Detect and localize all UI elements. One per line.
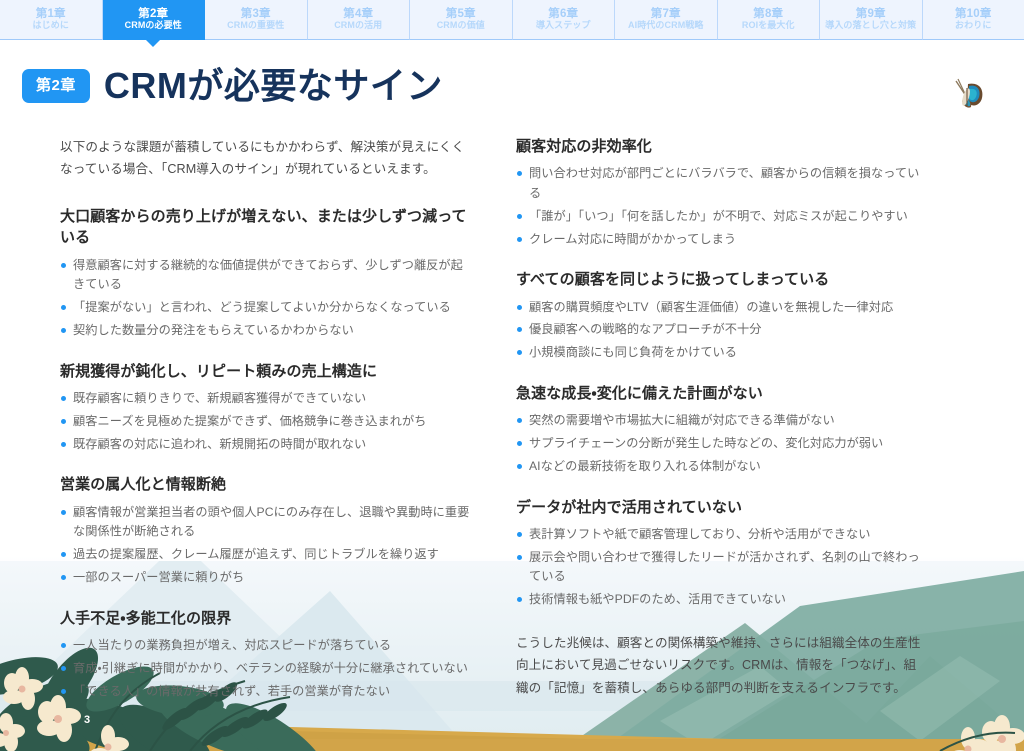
- tab-chapter-4[interactable]: 第4章 CRMの活用: [308, 0, 411, 40]
- list-item: クレーム対応に時間がかかってしまう: [516, 230, 926, 250]
- list-item: 一部のスーパー営業に頼りがち: [60, 568, 470, 588]
- tab-number: 第1章: [36, 8, 66, 21]
- list-item: 展示会や問い合わせで獲得したリードが活かされず、名刺の山で終わっている: [516, 548, 926, 588]
- tab-subtitle: ROIを最大化: [742, 21, 795, 31]
- list-item: 「できる人」の情報が共有されず、若手の営業が育たない: [60, 682, 470, 702]
- list-item: サプライチェーンの分断が発生した時などの、変化対応力が弱い: [516, 434, 926, 454]
- list-item: 優良顧客への戦略的なアプローチが不十分: [516, 320, 926, 340]
- lead-paragraph: 以下のような課題が蓄積しているにもかかわらず、解決策が見えにくくなっている場合、…: [60, 136, 470, 180]
- tab-chapter-7[interactable]: 第7章 AI時代のCRM戦略: [615, 0, 718, 40]
- section-bullet-list: 顧客の購買頻度やLTV（顧客生涯価値）の違いを無視した一律対応 優良顧客への戦略…: [516, 298, 926, 363]
- list-item: 契約した数量分の発注をもらえているかわからない: [60, 321, 470, 341]
- list-item: 育成・引継ぎに時間がかかり、ベテランの経験が十分に継承されていない: [60, 659, 470, 679]
- section-heading: 新規獲得が鈍化し、リピート頼みの売上構造に: [60, 361, 470, 382]
- section-data-not-utilized: データが社内で活用されていない 表計算ソフトや紙で顧客管理しており、分析や活用が…: [516, 497, 926, 610]
- list-item: 顧客情報が営業担当者の頭や個人PCにのみ存在し、退職や異動時に重要な関係性が断絶…: [60, 503, 470, 543]
- list-item: 「提案がない」と言われ、どう提案してよいか分からなくなっている: [60, 298, 470, 318]
- list-item: 得意顧客に対する継続的な価値提供ができておらず、少しずつ離反が起きている: [60, 256, 470, 296]
- list-item: 表計算ソフトや紙で顧客管理しており、分析や活用ができない: [516, 525, 926, 545]
- tab-number: 第9章: [856, 8, 886, 21]
- list-item: 顧客の購買頻度やLTV（顧客生涯価値）の違いを無視した一律対応: [516, 298, 926, 318]
- list-item: 突然の需要増や市場拡大に組織が対応できる準備がない: [516, 411, 926, 431]
- tab-subtitle: はじめに: [33, 21, 69, 31]
- section-heading: 営業の属人化と情報断絶: [60, 474, 470, 495]
- tab-number: 第8章: [753, 8, 783, 21]
- tab-subtitle: CRMの活用: [334, 21, 382, 31]
- section-heading: すべての顧客を同じように扱ってしまっている: [516, 269, 926, 290]
- slide-page: 第1章 はじめに 第2章 CRMの必要性 第3章 CRMの重要性 第4章 CRM…: [0, 0, 1024, 751]
- page-number: 3: [84, 714, 90, 726]
- section-heading: 急速な成長・変化に備えた計画がない: [516, 383, 926, 404]
- section-bullet-list: 得意顧客に対する継続的な価値提供ができておらず、少しずつ離反が起きている 「提案…: [60, 256, 470, 341]
- list-item: 一人当たりの業務負担が増え、対応スピードが落ちている: [60, 636, 470, 656]
- section-heading: 人手不足・多能工化の限界: [60, 608, 470, 629]
- section-large-customer-revenue: 大口顧客からの売り上げが増えない、または少しずつ減っている 得意顧客に対する継続…: [60, 206, 470, 341]
- section-bullet-list: 既存顧客に頼りきりで、新規顧客獲得ができていない 顧客ニーズを見極めた提案ができ…: [60, 389, 470, 454]
- list-item: 既存顧客の対応に追われ、新規開拓の時間が取れない: [60, 435, 470, 455]
- list-item: 顧客ニーズを見極めた提案ができず、価格競争に巻き込まれがち: [60, 412, 470, 432]
- list-item: 技術情報も紙やPDFのため、活用できていない: [516, 590, 926, 610]
- tab-number: 第2章: [138, 8, 168, 21]
- tab-number: 第3章: [241, 8, 271, 21]
- section-sales-siloing: 営業の属人化と情報断絶 顧客情報が営業担当者の頭や個人PCにのみ存在し、退職や異…: [60, 474, 470, 587]
- tab-number: 第10章: [955, 8, 992, 21]
- list-item: 「誰が」「いつ」「何を話したか」が不明で、対応ミスが起こりやすい: [516, 207, 926, 227]
- section-heading: データが社内で活用されていない: [516, 497, 926, 518]
- tab-subtitle: CRMの重要性: [227, 21, 284, 31]
- tab-chapter-1[interactable]: 第1章 はじめに: [0, 0, 103, 40]
- list-item: 既存顧客に頼りきりで、新規顧客獲得ができていない: [60, 389, 470, 409]
- section-bullet-list: 問い合わせ対応が部門ごとにバラバラで、顧客からの信頼を損なっている 「誰が」「い…: [516, 164, 926, 249]
- tab-chapter-8[interactable]: 第8章 ROIを最大化: [718, 0, 821, 40]
- tab-chapter-9[interactable]: 第9章 導入の落とし穴と対策: [820, 0, 923, 40]
- section-new-acquisition-slowdown: 新規獲得が鈍化し、リピート頼みの売上構造に 既存顧客に頼りきりで、新規顧客獲得が…: [60, 361, 470, 455]
- tab-chapter-3[interactable]: 第3章 CRMの重要性: [205, 0, 308, 40]
- tab-chapter-2[interactable]: 第2章 CRMの必要性: [103, 0, 206, 40]
- section-uniform-customer-treatment: すべての顧客を同じように扱ってしまっている 顧客の購買頻度やLTV（顧客生涯価値…: [516, 269, 926, 363]
- list-item: 過去の提案履歴、クレーム履歴が追えず、同じトラブルを繰り返す: [60, 545, 470, 565]
- section-bullet-list: 顧客情報が営業担当者の頭や個人PCにのみ存在し、退職や異動時に重要な関係性が断絶…: [60, 503, 470, 588]
- chapter-badge: 第2章: [22, 69, 90, 103]
- right-column: 顧客対応の非効率化 問い合わせ対応が部門ごとにバラバラで、顧客からの信頼を損なっ…: [516, 136, 926, 721]
- tab-subtitle: 導入の落とし穴と対策: [825, 21, 916, 31]
- left-column: 以下のような課題が蓄積しているにもかかわらず、解決策が見えにくくなっている場合、…: [60, 136, 470, 721]
- tab-subtitle: CRMの必要性: [125, 21, 182, 31]
- list-item: 小規模商談にも同じ負荷をかけている: [516, 343, 926, 363]
- section-no-growth-plan: 急速な成長・変化に備えた計画がない 突然の需要増や市場拡大に組織が対応できる準備…: [516, 383, 926, 477]
- list-item: 問い合わせ対応が部門ごとにバラバラで、顧客からの信頼を損なっている: [516, 164, 926, 204]
- list-item: AIなどの最新技術を取り入れる体制がない: [516, 457, 926, 477]
- tab-chapter-10[interactable]: 第10章 おわりに: [923, 0, 1024, 40]
- tab-chapter-5[interactable]: 第5章 CRMの価値: [410, 0, 513, 40]
- tab-subtitle: AI時代のCRM戦略: [628, 21, 704, 31]
- tab-number: 第5章: [446, 8, 476, 21]
- content-columns: 以下のような課題が蓄積しているにもかかわらず、解決策が見えにくくなっている場合、…: [0, 136, 1024, 721]
- tab-number: 第6章: [548, 8, 578, 21]
- section-heading: 顧客対応の非効率化: [516, 136, 926, 157]
- tab-number: 第4章: [343, 8, 373, 21]
- section-staff-shortage: 人手不足・多能工化の限界 一人当たりの業務負担が増え、対応スピードが落ちている …: [60, 608, 470, 702]
- closing-paragraph: こうした兆候は、顧客との関係構築や維持、さらには組織全体の生産性向上において見過…: [516, 632, 926, 699]
- section-bullet-list: 突然の需要増や市場拡大に組織が対応できる準備がない サプライチェーンの分断が発生…: [516, 411, 926, 476]
- page-title: CRMが必要なサイン: [104, 66, 443, 106]
- tab-subtitle: 導入ステップ: [536, 21, 591, 31]
- butterfly-icon: [946, 72, 992, 118]
- tab-chapter-6[interactable]: 第6章 導入ステップ: [513, 0, 616, 40]
- section-bullet-list: 一人当たりの業務負担が増え、対応スピードが落ちている 育成・引継ぎに時間がかかり…: [60, 636, 470, 701]
- section-heading: 大口顧客からの売り上げが増えない、または少しずつ減っている: [60, 206, 470, 249]
- tab-number: 第7章: [651, 8, 681, 21]
- tab-subtitle: おわりに: [955, 21, 991, 31]
- chapter-tabbar[interactable]: 第1章 はじめに 第2章 CRMの必要性 第3章 CRMの重要性 第4章 CRM…: [0, 0, 1024, 40]
- tab-subtitle: CRMの価値: [437, 21, 485, 31]
- section-bullet-list: 表計算ソフトや紙で顧客管理しており、分析や活用ができない 展示会や問い合わせで獲…: [516, 525, 926, 610]
- title-row: 第2章 CRMが必要なサイン: [22, 66, 443, 106]
- section-customer-support-inefficiency: 顧客対応の非効率化 問い合わせ対応が部門ごとにバラバラで、顧客からの信頼を損なっ…: [516, 136, 926, 249]
